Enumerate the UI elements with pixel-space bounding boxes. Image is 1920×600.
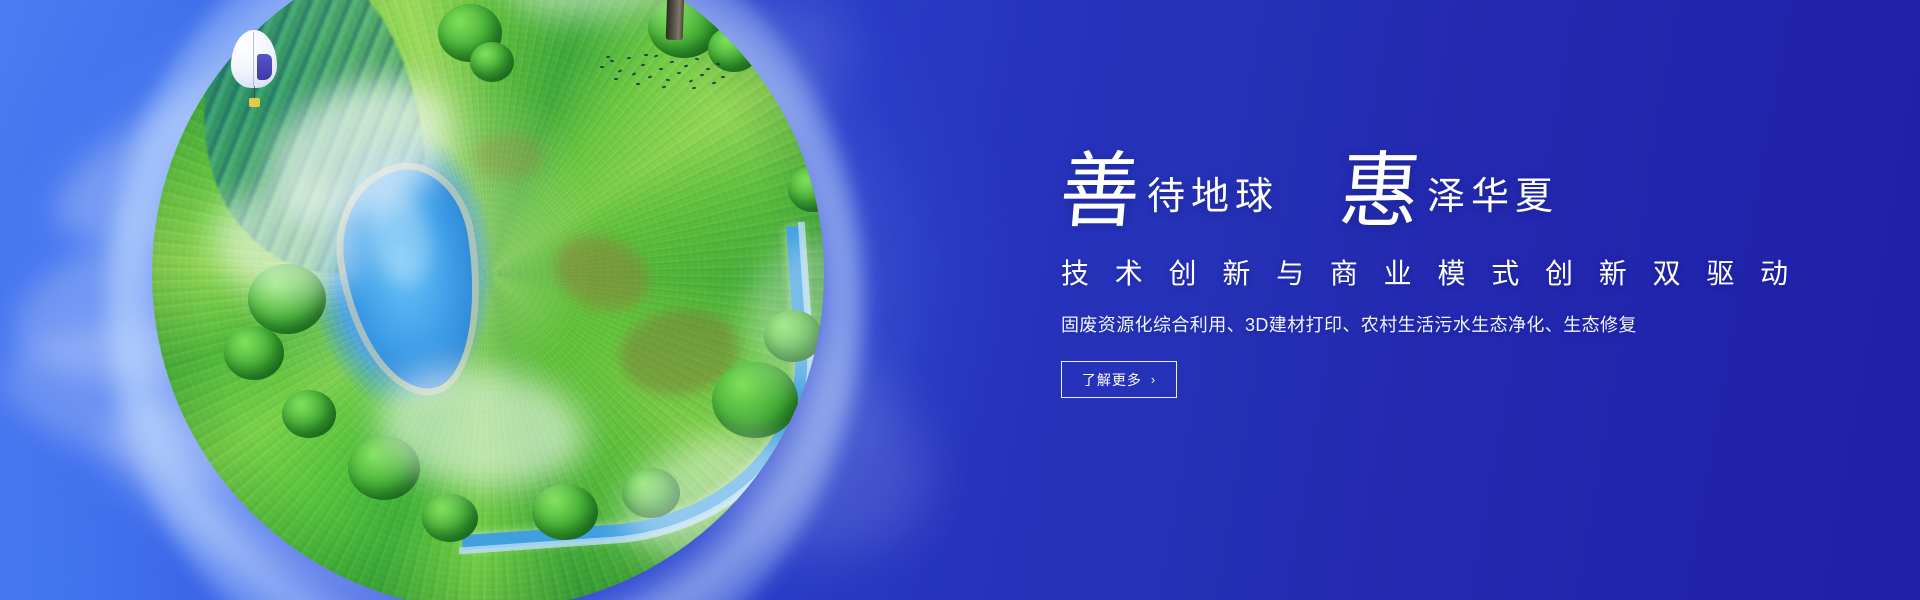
bird-icon [692, 87, 696, 90]
bird-icon [632, 72, 636, 76]
tree-trunk [666, 0, 688, 40]
hero-content: 善 待地球 惠 泽华夏 技 术 创 新 与 商 业 模 式 创 新 双 驱 动 … [1061, 142, 1761, 398]
learn-more-label: 了解更多 [1082, 370, 1142, 390]
hero-subtitle: 技 术 创 新 与 商 业 模 式 创 新 双 驱 动 [1061, 252, 1761, 292]
bird-icon [684, 65, 688, 68]
bird-icon [670, 61, 674, 64]
tree-cluster [224, 326, 284, 380]
bird-icon [641, 64, 645, 67]
tree-cluster [532, 484, 598, 540]
bird-icon [666, 79, 670, 82]
bird-icon [695, 58, 699, 61]
headline-part-1: 善 待地球 [1061, 156, 1279, 228]
bird-icon [689, 79, 693, 83]
bird-icon [606, 56, 610, 59]
bare-soil-patch [474, 134, 544, 180]
bird-icon [659, 68, 663, 71]
balloon-envelope [231, 30, 277, 88]
chevron-right-icon: › [1151, 373, 1156, 386]
tree-cluster [282, 390, 336, 438]
bird-icon [712, 81, 716, 84]
bird-icon [614, 78, 618, 80]
bird-icon [706, 68, 710, 71]
headline-big-char-2: 惠 [1337, 154, 1423, 230]
headline-small-text-1: 待地球 [1147, 178, 1279, 228]
hot-air-balloon-icon [231, 30, 277, 112]
bird-icon [662, 85, 666, 88]
learn-more-button[interactable]: 了解更多 › [1061, 361, 1177, 398]
bird-icon [644, 54, 648, 56]
bird-icon [600, 66, 604, 68]
bird-icon [654, 54, 658, 57]
tree [572, 0, 832, 42]
balloon-basket [249, 98, 260, 107]
headline-part-2: 惠 泽华夏 [1341, 156, 1559, 228]
bird-icon [618, 69, 622, 73]
hero-banner: 善 待地球 惠 泽华夏 技 术 创 新 与 商 业 模 式 创 新 双 驱 动 … [0, 0, 1920, 600]
bird-icon [627, 57, 631, 60]
hero-description: 固废资源化综合利用、3D建材打印、农村生活污水生态净化、生态修复 [1061, 311, 1761, 337]
bird-icon [677, 72, 681, 75]
bird-flock-icon [596, 52, 722, 92]
tree-cluster [470, 42, 514, 82]
bird-icon [700, 74, 704, 76]
bird-icon [636, 83, 640, 85]
headline-big-char-1: 善 [1057, 154, 1143, 230]
headline-small-text-2: 泽华夏 [1427, 178, 1559, 228]
page-title: 善 待地球 惠 泽华夏 [1061, 142, 1761, 228]
bird-icon [648, 75, 652, 78]
tree-cluster [422, 494, 478, 542]
bird-icon [610, 59, 614, 62]
bird-icon [716, 63, 720, 66]
